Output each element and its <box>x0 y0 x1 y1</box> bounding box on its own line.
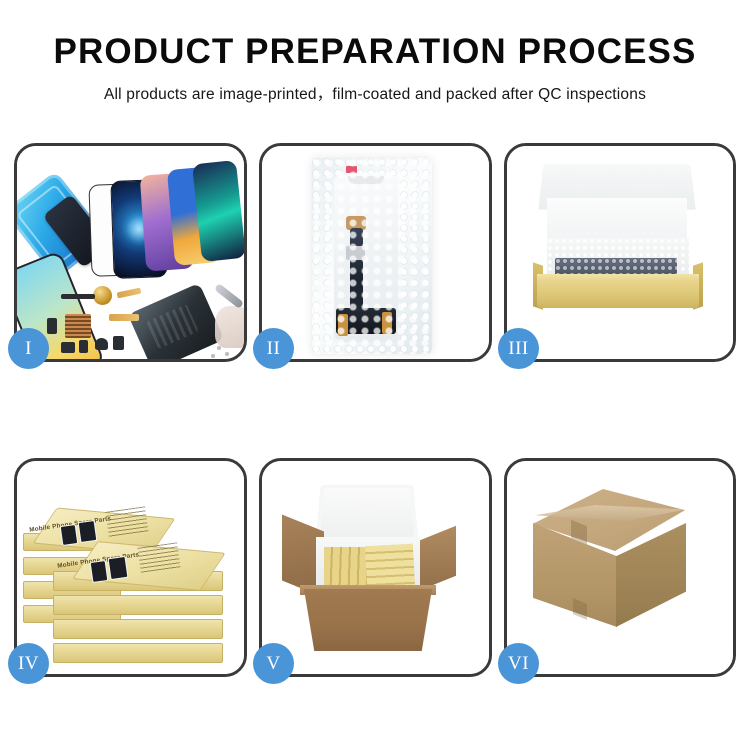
stacked-box-right-3 <box>53 619 223 639</box>
screw-part-2 <box>225 352 229 356</box>
step-badge-4: IV <box>8 643 49 684</box>
phone-parts-scene <box>17 146 244 359</box>
page-subtitle: All products are image-printed，film-coat… <box>0 82 750 104</box>
box-spec-lines-1 <box>105 506 148 537</box>
box-window-1b <box>78 520 98 543</box>
step-badge-6: VI <box>498 643 539 684</box>
bubble-texture-overlay <box>312 158 432 354</box>
step-panel-1: I <box>14 143 247 362</box>
product-preparation-infographic: PRODUCT PREPARATION PROCESS All products… <box>0 0 750 750</box>
step-image-2 <box>262 146 489 359</box>
teal-phone-graphic <box>192 160 244 262</box>
phone-chassis-graphic <box>128 283 224 359</box>
step-badge-3: III <box>498 328 539 369</box>
step-badge-5: V <box>253 643 294 684</box>
box-window-1a <box>60 524 79 546</box>
step-image-3 <box>507 146 733 359</box>
box-stack: Mobile Phone Spare Parts Mobile Phone Sp… <box>23 485 235 661</box>
box-spec-lines-2 <box>137 542 180 573</box>
bubble-wrap-bag <box>312 158 432 354</box>
stacked-box-right-4 <box>53 643 223 663</box>
step-panel-6: VI <box>504 458 736 677</box>
step-panel-2: II <box>259 143 492 362</box>
step-panel-3: III <box>504 143 736 362</box>
step-image-6 <box>507 461 733 674</box>
header: PRODUCT PREPARATION PROCESS All products… <box>0 0 750 104</box>
carton-front-panel <box>304 589 432 651</box>
step-panel-5: V <box>259 458 492 677</box>
flex-cable-part-1 <box>117 288 142 299</box>
box-front-panel <box>537 280 699 308</box>
component-part-1 <box>61 342 75 353</box>
step-image-1 <box>17 146 244 359</box>
carton-flap-right <box>420 526 456 591</box>
packed-yellow-boxes-stack <box>365 544 415 590</box>
step-image-5 <box>262 461 489 674</box>
step-image-4: Mobile Phone Spare Parts Mobile Phone Sp… <box>17 461 244 674</box>
step-panel-4: Mobile Phone Spare Parts Mobile Phone Sp… <box>14 458 247 677</box>
technician-hand-graphic <box>215 306 244 348</box>
connector-mesh-part <box>65 314 91 338</box>
step-badge-2: II <box>253 328 294 369</box>
flex-cable-part-2 <box>109 314 139 321</box>
screw-part-3 <box>211 354 215 358</box>
copper-coil-part <box>93 286 112 305</box>
page-title: PRODUCT PREPARATION PROCESS <box>0 34 750 69</box>
speaker-part <box>95 338 108 350</box>
box-window-2b <box>108 556 129 580</box>
steps-grid: I II <box>14 143 736 682</box>
earpiece-part <box>61 294 95 299</box>
box-window-2a <box>90 560 109 583</box>
component-part-2 <box>79 340 88 353</box>
component-part-3 <box>113 336 124 350</box>
component-part-4 <box>47 318 57 334</box>
stacked-box-right-2 <box>53 595 223 615</box>
step-badge-1: I <box>8 328 49 369</box>
